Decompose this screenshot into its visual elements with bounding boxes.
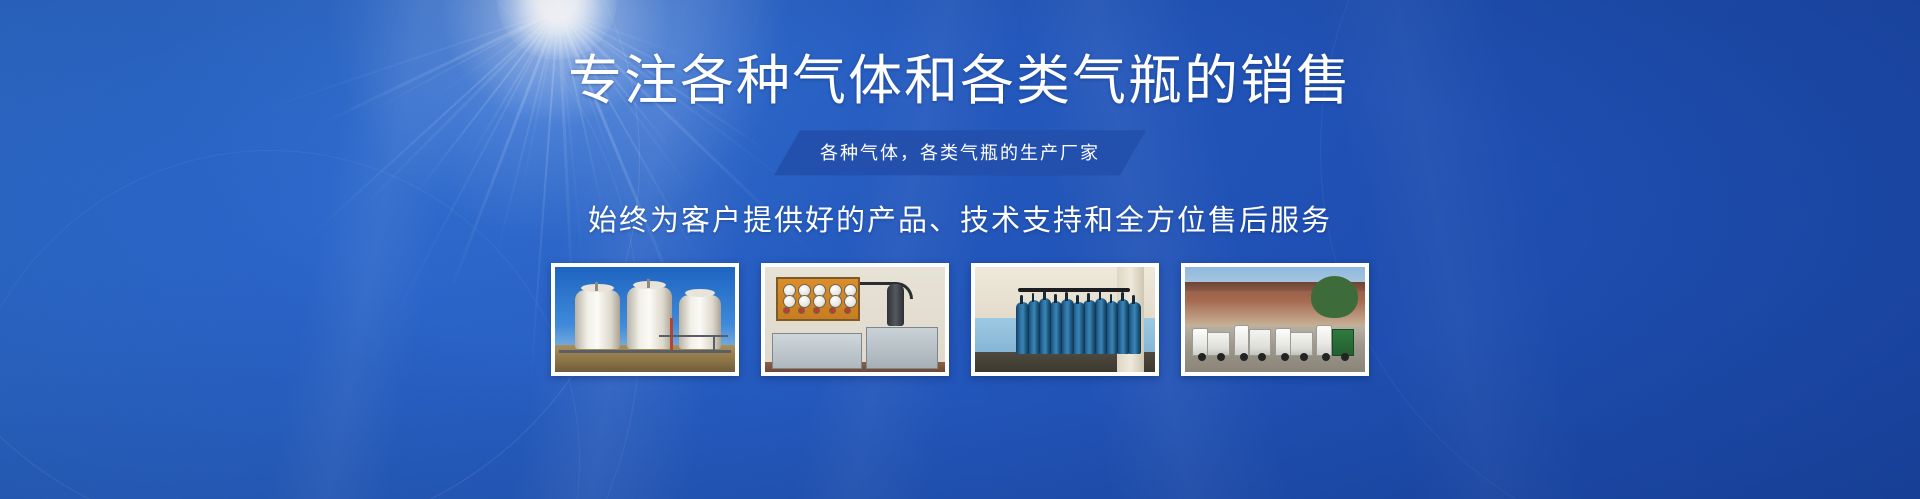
gas-cylinder — [1050, 301, 1063, 355]
tank-neck-2 — [647, 279, 650, 288]
truck-wheel — [1300, 353, 1308, 361]
pressure-gauge — [829, 307, 836, 314]
truck-wheel — [1217, 353, 1225, 361]
ribbon-container: 各种气体，各类气瓶的生产厂家 — [774, 130, 1146, 175]
delivery-truck — [1234, 325, 1272, 355]
delivery-truck — [1275, 328, 1313, 355]
pressure-gauge — [798, 307, 805, 314]
truck-wheel — [1240, 353, 1248, 361]
handrail — [659, 335, 727, 337]
service-subtitle: 始终为客户提供好的产品、技术支持和全方位售后服务 — [588, 197, 1332, 239]
truck-wheel — [1281, 353, 1289, 361]
storage-tank-2 — [627, 287, 672, 349]
tank-neck-1 — [595, 282, 598, 291]
delivery-truck — [1192, 328, 1230, 355]
photo-thumbnail-blue-gas-cylinders[interactable] — [971, 263, 1159, 376]
banner-content: 专注各种气体和各类气瓶的销售 各种气体，各类气瓶的生产厂家 始终为客户提供好的产… — [0, 0, 1920, 499]
gas-cylinder — [1083, 300, 1096, 355]
photo-3-scene — [975, 267, 1155, 372]
truck-wheel — [1198, 353, 1206, 361]
gas-cylinder — [1095, 298, 1108, 355]
truck-cargo-box — [1290, 332, 1313, 356]
ground-equipment — [559, 350, 732, 353]
pressure-gauge — [844, 307, 851, 314]
gas-cylinder — [1039, 298, 1052, 355]
truck-cargo-box — [1207, 332, 1230, 356]
gas-cylinder — [1028, 300, 1041, 355]
photo-thumbnail-cryogenic-storage-tanks[interactable] — [551, 263, 739, 376]
ground-layer — [555, 345, 735, 372]
truck-cab — [1234, 325, 1250, 355]
manifold-pipe — [1018, 288, 1130, 292]
hero-banner: 专注各种气体和各类气瓶的销售 各种气体，各类气瓶的生产厂家 始终为客户提供好的产… — [0, 0, 1920, 499]
gas-cylinder — [1016, 302, 1029, 355]
truck-cargo-box — [1249, 329, 1272, 356]
photo-1-scene — [555, 267, 735, 372]
truck-wheel — [1322, 353, 1330, 361]
photo-strip — [551, 263, 1369, 376]
truck-wheel — [1341, 353, 1349, 361]
control-cabinet-right — [866, 327, 938, 369]
truck-cab — [1316, 325, 1332, 355]
delivery-truck — [1316, 325, 1354, 355]
photo-thumbnail-gauge-panel-filling-station[interactable] — [761, 263, 949, 376]
gas-cylinder — [1061, 299, 1074, 355]
page-title: 专注各种气体和各类气瓶的销售 — [568, 52, 1352, 110]
gas-cylinder — [1106, 301, 1119, 355]
gas-cylinder — [1072, 302, 1085, 355]
black-gas-tank — [887, 284, 904, 326]
tagline-ribbon: 各种气体，各类气瓶的生产厂家 — [774, 130, 1146, 175]
storage-tank-1 — [575, 290, 620, 349]
truck-cab — [1275, 328, 1291, 355]
pressure-gauge — [813, 307, 820, 314]
photo-4-scene — [1185, 267, 1365, 372]
truck-cab — [1192, 328, 1208, 355]
gauge-panel — [776, 277, 861, 321]
photo-2-scene — [765, 267, 945, 372]
control-cabinet-left — [772, 333, 862, 369]
gas-cylinder — [1128, 302, 1141, 355]
photo-thumbnail-delivery-trucks[interactable] — [1181, 263, 1369, 376]
tree — [1311, 276, 1358, 318]
pressure-gauge — [783, 307, 790, 314]
truck-wheel — [1258, 353, 1266, 361]
truck-cargo-box — [1332, 329, 1355, 356]
gas-cylinder — [1117, 299, 1130, 355]
